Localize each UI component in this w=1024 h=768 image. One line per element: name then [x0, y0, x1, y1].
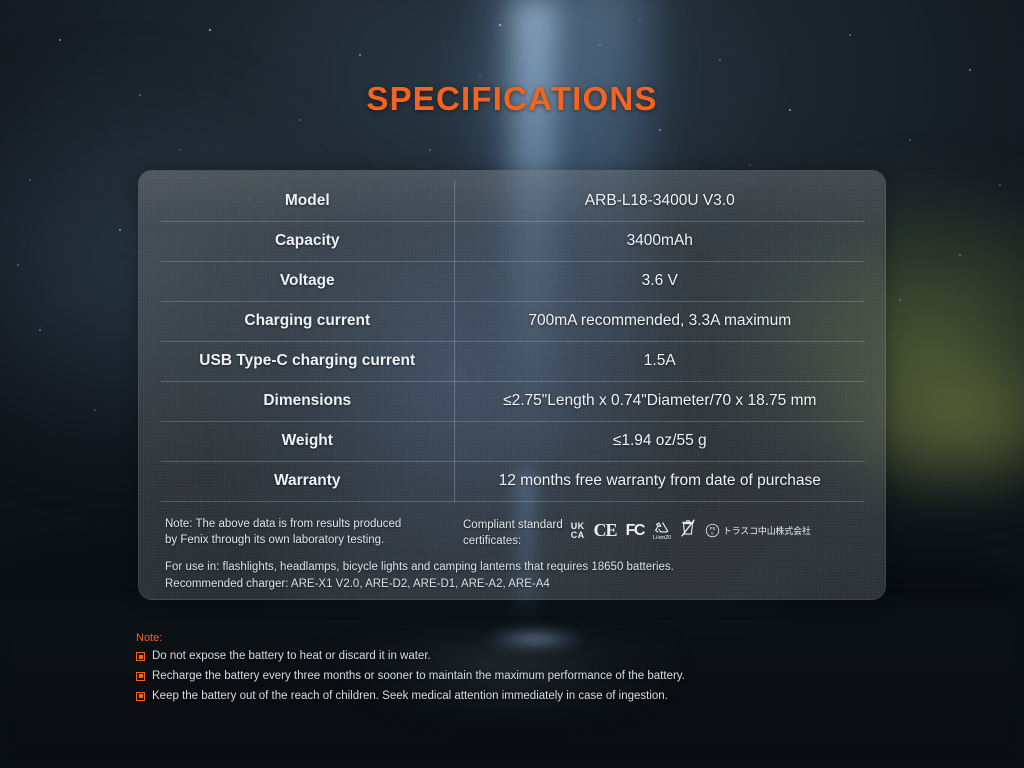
laboratory-note-line1: Note: The above data is from results pro… — [165, 516, 463, 532]
table-row: Weight ≤1.94 oz/55 g — [161, 421, 865, 461]
bottom-note-text: Do not expose the battery to heat or dis… — [152, 650, 431, 664]
table-row: Voltage 3.6 V — [161, 261, 865, 301]
fcc-icon: FC — [626, 522, 644, 540]
compliance-label-line1: Compliant standard — [463, 517, 563, 533]
card-footer-row: Note: The above data is from results pro… — [165, 516, 865, 550]
page-title: SPECIFICATIONS — [0, 80, 1024, 118]
spec-value: 3400mAh — [454, 221, 865, 261]
bottom-notes-title: Note: — [136, 632, 896, 644]
spec-value: 700mA recommended, 3.3A maximum — [454, 301, 865, 341]
bottom-note-text: Keep the battery out of the reach of chi… — [152, 690, 668, 704]
square-bullet-icon — [136, 672, 145, 681]
list-item: Keep the battery out of the reach of chi… — [136, 690, 896, 704]
square-bullet-icon — [136, 692, 145, 701]
usage-info: For use in: flashlights, headlamps, bicy… — [165, 559, 855, 592]
specifications-table: Model ARB-L18-3400U V3.0 Capacity 3400mA… — [161, 181, 865, 502]
ukca-icon: UK CA — [571, 522, 585, 539]
spec-value: 3.6 V — [454, 261, 865, 301]
compliance-label: Compliant standard certificates: — [463, 517, 563, 550]
compliance-label-line2: certificates: — [463, 533, 563, 549]
table-row: Warranty 12 months free warranty from da… — [161, 461, 865, 501]
recycle-caption: Li-ion20 — [653, 536, 671, 542]
table-row: Capacity 3400mAh — [161, 221, 865, 261]
table-row: Dimensions ≤2.75"Length x 0.74"Diameter/… — [161, 381, 865, 421]
svg-text:PS: PS — [709, 526, 715, 531]
recycle-icon: Li-ion20 — [653, 520, 671, 542]
spec-key: Dimensions — [161, 381, 454, 421]
spec-key: USB Type-C charging current — [161, 341, 454, 381]
usage-line1: For use in: flashlights, headlamps, bicy… — [165, 559, 855, 576]
bottom-notes: Note: Do not expose the battery to heat … — [136, 632, 896, 709]
spec-value: ≤2.75"Length x 0.74"Diameter/70 x 18.75 … — [454, 381, 865, 421]
spec-value: ≤1.94 oz/55 g — [454, 421, 865, 461]
specifications-card: Model ARB-L18-3400U V3.0 Capacity 3400mA… — [138, 170, 886, 600]
spec-key: Model — [161, 181, 454, 221]
laboratory-note-line2: by Fenix through its own laboratory test… — [165, 532, 463, 548]
table-row: Model ARB-L18-3400U V3.0 — [161, 181, 865, 221]
spec-key: Warranty — [161, 461, 454, 501]
usage-line2: Recommended charger: ARE-X1 V2.0, ARE-D2… — [165, 576, 855, 593]
weee-crossed-bin-icon — [680, 519, 696, 542]
list-item: Do not expose the battery to heat or dis… — [136, 650, 896, 664]
spec-key: Charging current — [161, 301, 454, 341]
compliance-logos: UK CA CE FC Li-ion20 — [571, 519, 811, 542]
bottom-note-text: Recharge the battery every three months … — [152, 670, 685, 684]
spec-key: Capacity — [161, 221, 454, 261]
spec-key: Voltage — [161, 261, 454, 301]
spec-key: Weight — [161, 421, 454, 461]
laboratory-note: Note: The above data is from results pro… — [165, 516, 463, 549]
square-bullet-icon — [136, 652, 145, 661]
ukca-line2: CA — [571, 531, 585, 540]
compliance-block: Compliant standard certificates: UK CA C… — [463, 516, 811, 550]
spec-value: 12 months free warranty from date of pur… — [454, 461, 865, 501]
table-row: Charging current 700mA recommended, 3.3A… — [161, 301, 865, 341]
spec-value: 1.5A — [454, 341, 865, 381]
table-row: USB Type-C charging current 1.5A — [161, 341, 865, 381]
pse-company-name: トラスコ中山株式会社 — [723, 524, 811, 537]
ce-icon: CE — [594, 520, 617, 541]
svg-text:E: E — [711, 532, 714, 536]
list-item: Recharge the battery every three months … — [136, 670, 896, 684]
spec-value: ARB-L18-3400U V3.0 — [454, 181, 865, 221]
pse-icon: PS E トラスコ中山株式会社 — [705, 523, 811, 538]
